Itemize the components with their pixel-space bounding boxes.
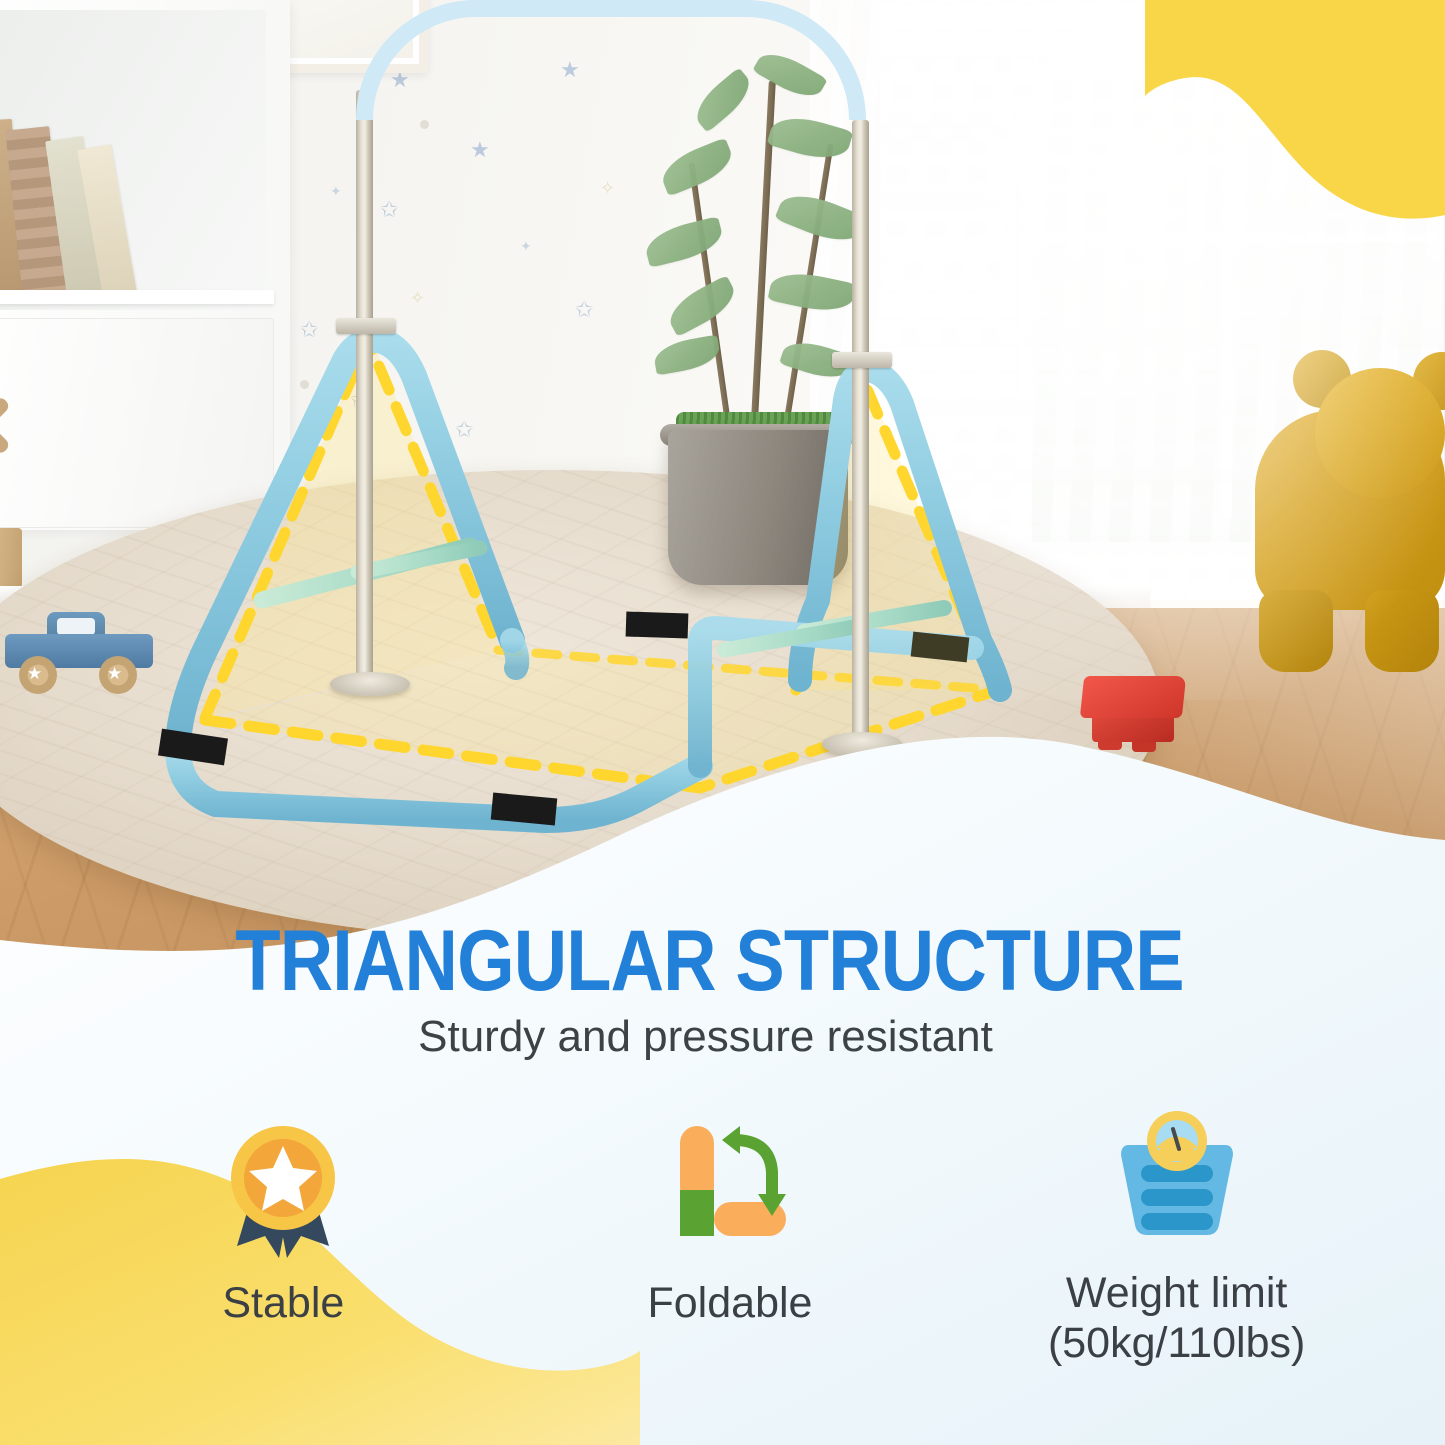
telescoping-post-left [356, 90, 373, 690]
feature-label-weight-limit: Weight limit (50kg/110lbs) [1048, 1269, 1305, 1369]
fold-arrow-icon [662, 1115, 798, 1265]
product-feature-image: ★ ✩ ✦ ✩ ✧ ★ ✩ ✦ ★ ✩ ✧ ★ ✩ ✦ ★ ✩ ✧ ✦ ✩ ✦ … [0, 0, 1445, 1445]
feature-label-stable: Stable [222, 1279, 344, 1329]
feature-foldable: Foldable [530, 1115, 930, 1329]
decor-blob-top-right [1145, 0, 1445, 230]
feature-weight-limit: Weight limit (50kg/110lbs) [977, 1105, 1377, 1369]
page-subtitle: Sturdy and pressure resistant [0, 1012, 1445, 1062]
post-bracket-right [832, 352, 892, 368]
medal-star-icon [217, 1115, 349, 1265]
post-bracket-left [336, 318, 396, 334]
weight-scale-icon [1107, 1105, 1247, 1255]
feature-row: Stable Foldable [60, 1115, 1400, 1415]
page-title: TRIANGULAR STRUCTURE [101, 912, 1344, 1011]
feature-label-foldable: Foldable [648, 1279, 813, 1329]
feature-stable: Stable [83, 1115, 483, 1329]
horizontal-pullup-bar [356, 0, 866, 120]
